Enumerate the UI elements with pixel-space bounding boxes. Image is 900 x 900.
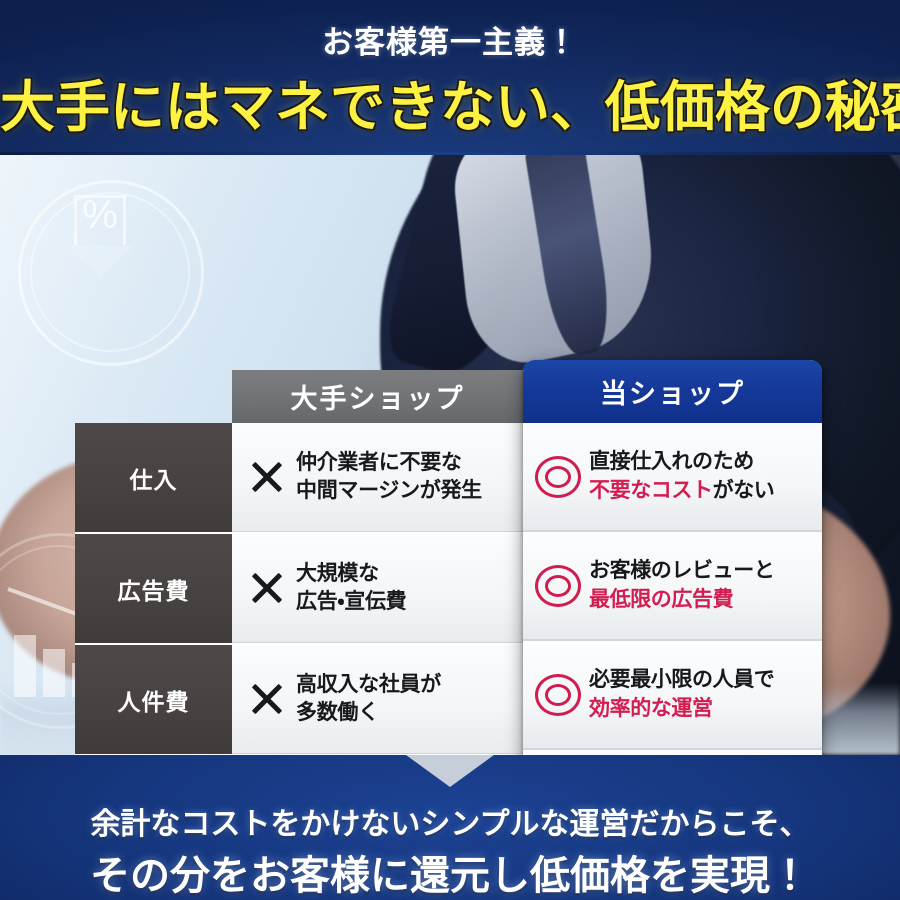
arrow-notch-icon [406, 755, 494, 787]
footer-band: 余計なコストをかけないシンプルな運営だからこそ、 その分をお客様に還元し低価格を… [0, 755, 900, 900]
our-shop-header: 当ショップ [523, 360, 822, 423]
row-text: 必要最小限の人員で 効率的な運営 [589, 666, 774, 722]
table-row: 仕入 仲介業者に不要な 中間マージンが発生 [75, 423, 523, 534]
our-shop-panel: 当ショップ 直接仕入れのため 不要なコストがない お客様のレビューと 最低限の広… [523, 360, 822, 755]
table-row: 必要最小限の人員で 効率的な運営 [523, 641, 822, 750]
header-title: 大手にはマネできない、低価格の秘密 [0, 62, 900, 142]
cross-icon [244, 565, 290, 611]
cross-icon [244, 676, 290, 722]
row-content: 大規模な 広告・宣伝費 [232, 534, 523, 643]
table-row: 直接仕入れのため 不要なコストがない [523, 423, 822, 532]
row-text: 直接仕入れのため 不要なコストがない [589, 448, 774, 504]
table-row: お客様のレビューと 最低限の広告費 [523, 532, 822, 641]
double-circle-icon [535, 674, 581, 716]
cross-icon [244, 454, 290, 500]
double-circle-icon [535, 456, 581, 498]
row-label: 人件費 [75, 645, 232, 754]
row-content: 高収入な社員が 多数働く [232, 645, 523, 754]
row-label: 広告費 [75, 534, 232, 643]
row-text: お客様のレビューと 最低限の広告費 [589, 557, 774, 613]
percent-symbol: % [60, 193, 140, 238]
major-shop-header: 大手ショップ [232, 370, 523, 423]
double-circle-icon [535, 565, 581, 607]
row-content: 仲介業者に不要な 中間マージンが発生 [232, 423, 523, 532]
header-subtitle: お客様第一主義！ [0, 17, 900, 62]
photo-background: % 大手ショップ 仕入 仲介業者に不要な 中間マージンが発生 [0, 155, 900, 755]
table-row: 広告費 大規模な 広告・宣伝費 [75, 534, 523, 645]
row-label: 仕入 [75, 423, 232, 532]
header-band: お客様第一主義！ 大手にはマネできない、低価格の秘密 [0, 0, 900, 155]
row-text: 大規模な 広告・宣伝費 [296, 560, 406, 615]
major-shop-rows: 仕入 仲介業者に不要な 中間マージンが発生 広告費 大規模な [75, 423, 523, 755]
footer-line-1: 余計なコストをかけないシンプルな運営だからこそ、 [0, 799, 900, 843]
table-row: 人件費 高収入な社員が 多数働く [75, 645, 523, 755]
row-text: 仲介業者に不要な 中間マージンが発生 [296, 449, 482, 504]
infographic-root: お客様第一主義！ 大手にはマネできない、低価格の秘密 % 大手ショップ [0, 0, 900, 900]
footer-line-2: その分をお客様に還元し低価格を実現！ [0, 843, 900, 900]
row-text: 高収入な社員が 多数働く [296, 671, 441, 726]
